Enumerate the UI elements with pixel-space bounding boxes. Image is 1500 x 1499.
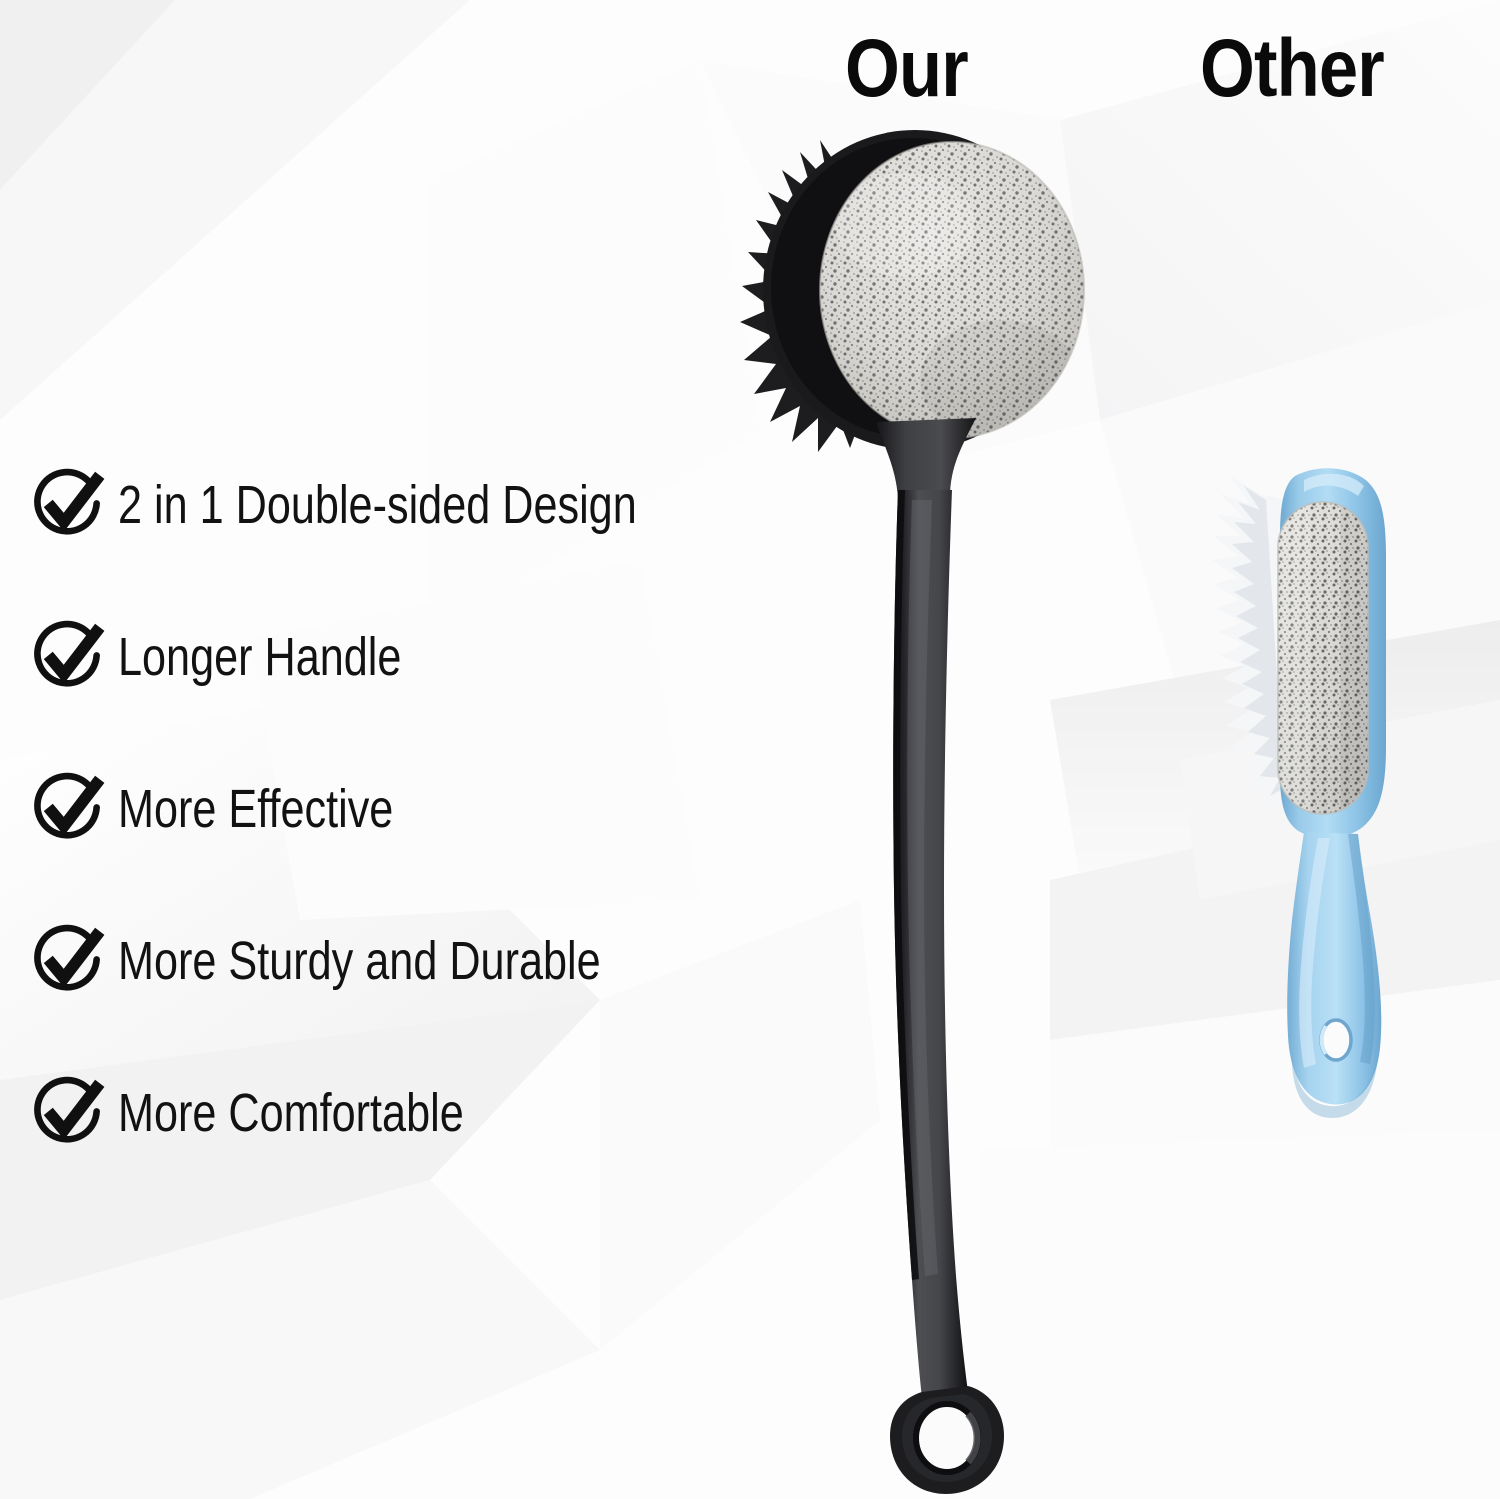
hanging-hole bbox=[1321, 1020, 1351, 1060]
feature-label: Longer Handle bbox=[118, 630, 401, 684]
white-bristles bbox=[1212, 476, 1286, 812]
our-foot-brush-image bbox=[700, 130, 1120, 1470]
check-circle-icon bbox=[28, 1074, 106, 1152]
hanging-hole bbox=[890, 1386, 1004, 1494]
check-circle-icon bbox=[28, 466, 106, 544]
pumice-stone-pad bbox=[1270, 495, 1380, 825]
our-column-header: Our bbox=[845, 28, 968, 110]
check-circle-icon bbox=[28, 618, 106, 696]
feature-label: More Comfortable bbox=[118, 1086, 464, 1140]
product-comparison-image: Our Other 2 in 1 Double-sided Design Lon… bbox=[0, 0, 1500, 1499]
brush-neck bbox=[876, 418, 976, 498]
feature-label: More Sturdy and Durable bbox=[118, 934, 601, 988]
check-circle-icon bbox=[28, 922, 106, 1000]
other-column-header: Other bbox=[1200, 28, 1384, 110]
feature-label: 2 in 1 Double-sided Design bbox=[118, 478, 637, 532]
check-circle-icon bbox=[28, 770, 106, 848]
other-foot-brush-image bbox=[1200, 440, 1470, 1160]
feature-label: More Effective bbox=[118, 782, 393, 836]
